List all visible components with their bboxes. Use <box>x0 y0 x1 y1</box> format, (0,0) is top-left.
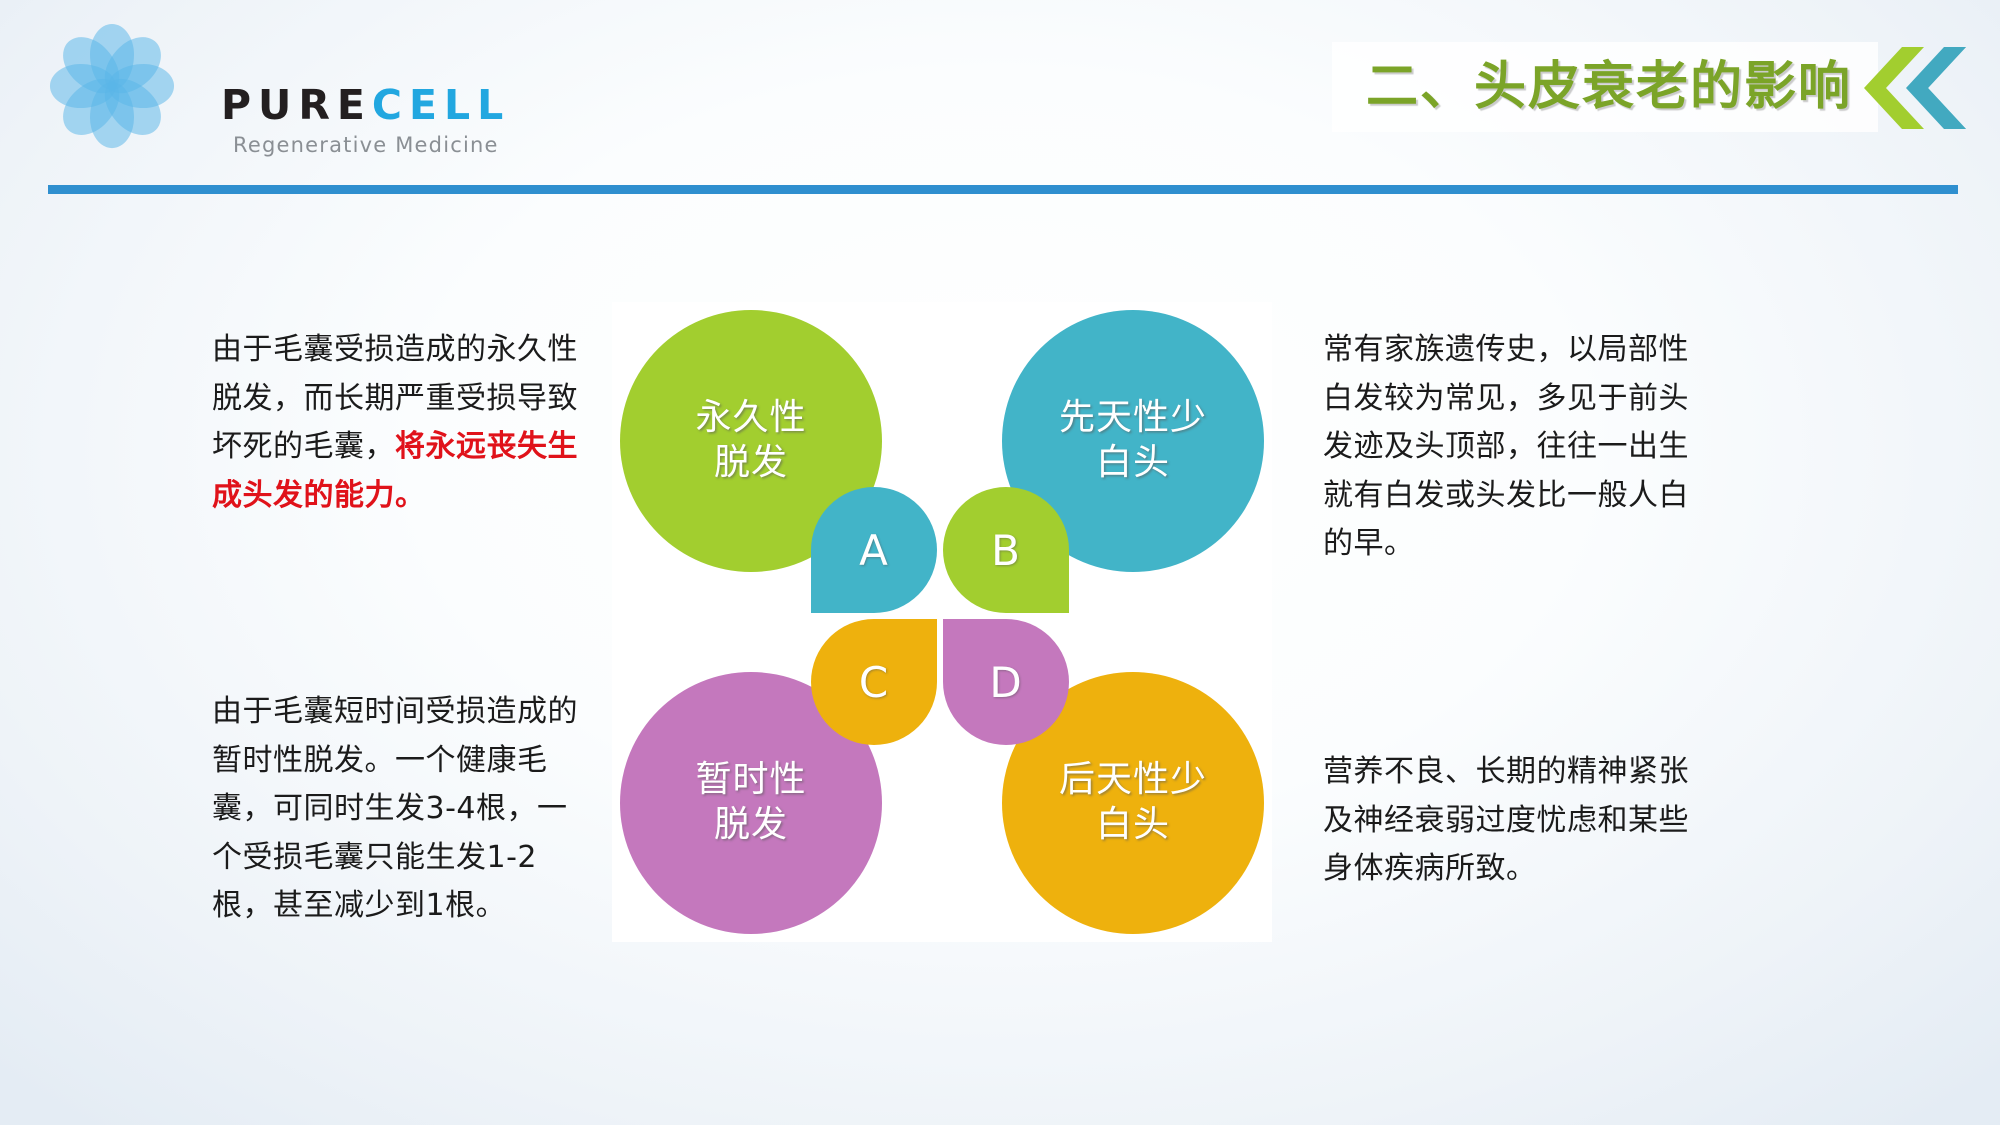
page-title: 二、头皮衰老的影响 <box>1366 61 1852 113</box>
chevron-left-green-icon <box>1862 47 1924 129</box>
petal-b[interactable]: B <box>943 487 1069 613</box>
text-plain: 营养不良、长期的精神紧张及神经衰弱过度忧虑和某些身体疾病所致。 <box>1323 754 1689 886</box>
petal-letter: B <box>991 526 1021 575</box>
circle-label-line2: 脱发 <box>714 441 788 486</box>
description-temporary-hairloss: 由于毛囊短时间受损造成的暂时性脱发。一个健康毛囊，可同时生发3-4根，一个受损毛… <box>212 688 584 931</box>
description-congenital-grayhair: 常有家族遗传史，以局部性白发较为常见，多见于前头发迹及头顶部，往往一出生就有白发… <box>1323 326 1711 569</box>
brand-wordmark: PURECELL <box>221 85 510 126</box>
petal-letter: A <box>859 526 889 575</box>
four-petal-diagram: 永久性 脱发 先天性少 白头 暂时性 脱发 后天性少 白头 A B C D <box>612 302 1272 942</box>
purecell-flower-logo-icon <box>58 32 166 140</box>
text-plain: 由于毛囊短时间受损造成的暂时性脱发。一个健康毛囊，可同时生发3-4根，一个受损毛… <box>212 694 578 923</box>
petal-a[interactable]: A <box>811 487 937 613</box>
description-permanent-hairloss: 由于毛囊受损造成的永久性脱发，而长期严重受损导致坏死的毛囊，将永远丧失生成头发的… <box>212 326 584 520</box>
circle-label-line2: 脱发 <box>714 803 788 848</box>
section-title-banner: 二、头皮衰老的影响 <box>1332 42 1878 132</box>
circle-label-line2: 白头 <box>1096 441 1170 486</box>
circle-label-line1: 永久性 <box>695 396 806 441</box>
header-divider-rule <box>48 185 1958 194</box>
wordmark-cell: CELL <box>372 81 510 129</box>
circle-label-line1: 后天性少 <box>1059 758 1207 803</box>
wordmark-pure: PURE <box>221 81 372 129</box>
petal-letter: C <box>859 658 889 707</box>
petal-d[interactable]: D <box>943 619 1069 745</box>
petal-letter: D <box>989 658 1022 707</box>
circle-label-line1: 先天性少 <box>1059 396 1207 441</box>
header-chevron-group <box>1862 47 1982 129</box>
text-plain: 常有家族遗传史，以局部性白发较为常见，多见于前头发迹及头顶部，往往一出生就有白发… <box>1323 332 1689 561</box>
brand-tagline: Regenerative Medicine <box>233 135 499 156</box>
circle-label-line1: 暂时性 <box>695 758 806 803</box>
brand-logo-block: PURECELL Regenerative Medicine <box>58 30 528 140</box>
description-acquired-grayhair: 营养不良、长期的精神紧张及神经衰弱过度忧虑和某些身体疾病所致。 <box>1323 748 1711 894</box>
page-header: PURECELL Regenerative Medicine 二、头皮衰老的影响 <box>0 0 2000 175</box>
petal-c[interactable]: C <box>811 619 937 745</box>
circle-label-line2: 白头 <box>1096 803 1170 848</box>
